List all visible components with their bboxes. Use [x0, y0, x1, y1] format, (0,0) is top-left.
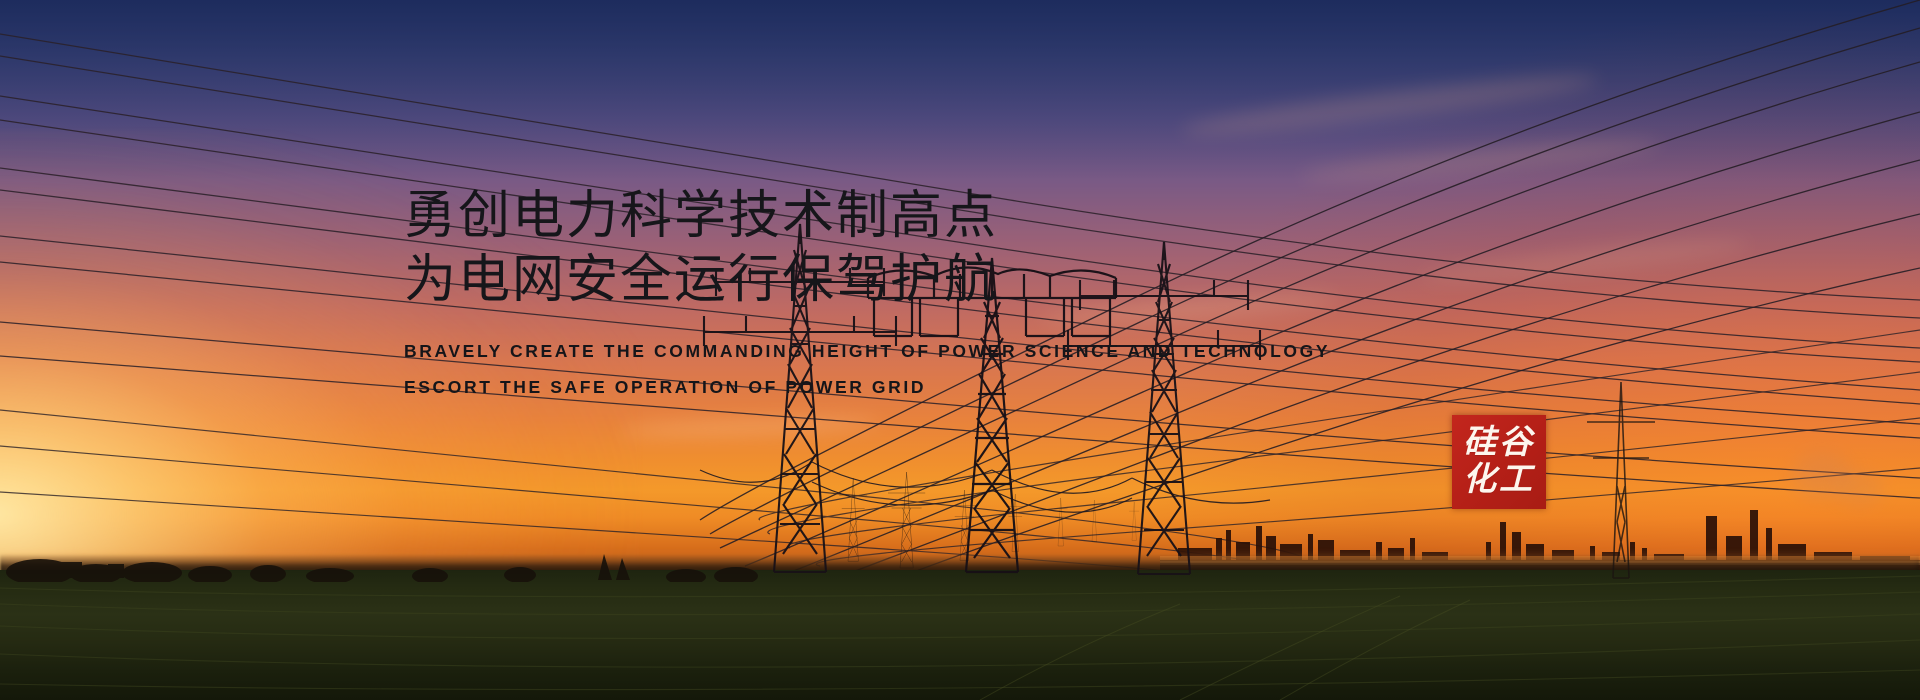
subtitle-line-1: BRAVELY CREATE THE COMMANDING HEIGHT OF … — [404, 334, 1330, 370]
seal-text-line-1: 硅谷 — [1463, 425, 1535, 462]
headline-line-2: 为电网安全运行保驾护航 — [404, 249, 1330, 313]
tower-far-right — [1587, 382, 1655, 578]
hero-banner: 勇创电力科学技术制高点 为电网安全运行保驾护航 BRAVELY CREATE T… — [0, 0, 1920, 700]
banner-copy-block: 勇创电力科学技术制高点 为电网安全运行保驾护航 BRAVELY CREATE T… — [404, 185, 1330, 406]
company-seal-logo[interactable]: 硅谷 化工 — [1452, 415, 1546, 509]
seal-text-line-2: 化工 — [1463, 462, 1535, 499]
left-hedgerow — [0, 532, 760, 582]
headline-line-1: 勇创电力科学技术制高点 — [404, 185, 1330, 249]
subtitle-line-2: ESCORT THE SAFE OPERATION OF POWER GRID — [404, 370, 1330, 406]
